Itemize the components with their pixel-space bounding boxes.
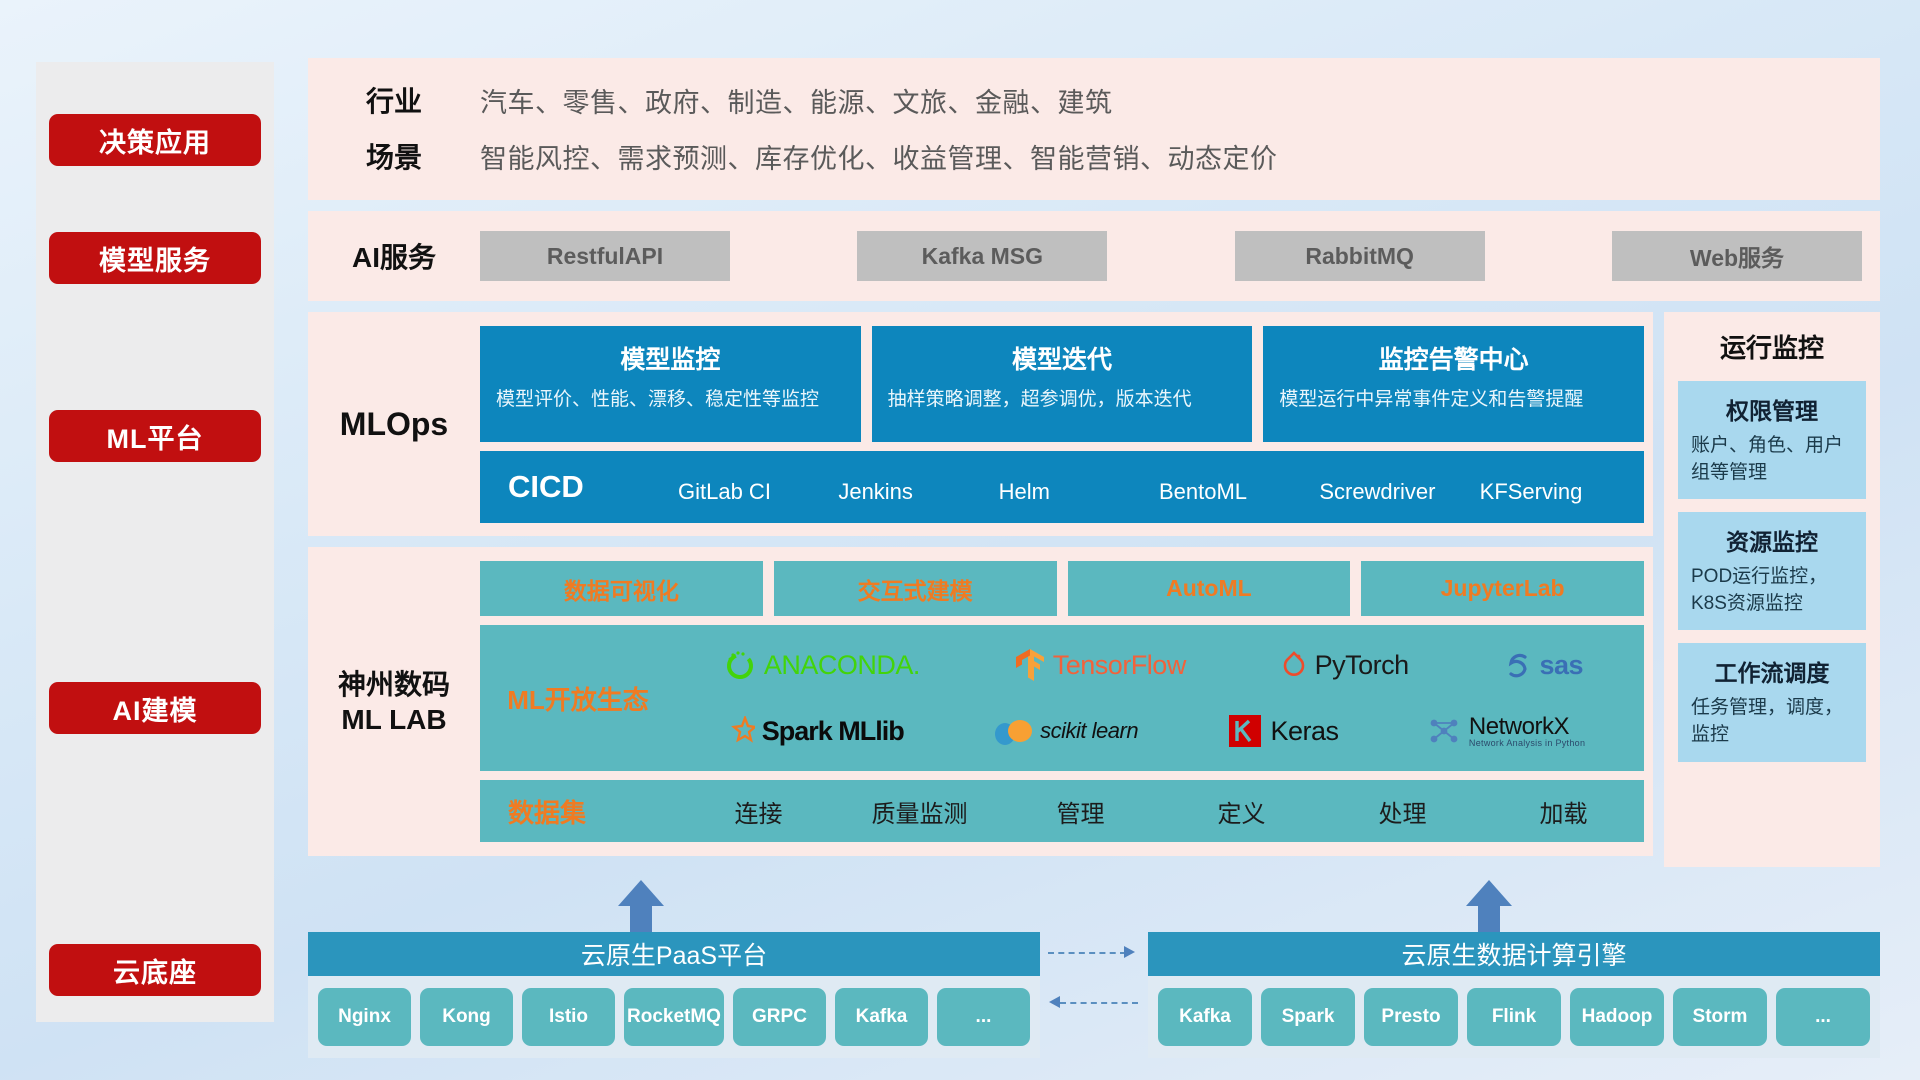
diagram-canvas: 决策应用 模型服务 ML平台 AI建模 云底座 行业 汽车、零售、政府、制造、能…	[0, 0, 1920, 1080]
paas-column: 云原生PaaS平台 Nginx Kong Istio RocketMQ GRPC…	[308, 880, 1040, 1058]
dataset-bar: 数据集 连接 质量监测 管理 定义 处理 加载	[480, 780, 1644, 842]
rail-item-model-service[interactable]: 模型服务	[49, 232, 261, 284]
dataset-item-manage[interactable]: 管理	[1000, 794, 1161, 829]
cicd-item-kfserving[interactable]: KFServing	[1480, 470, 1640, 504]
lab-tab-interactive-modeling[interactable]: 交互式建模	[774, 561, 1057, 616]
card-title: 模型迭代	[888, 340, 1237, 376]
mlops-card-model-iteration[interactable]: 模型迭代 抽样策略调整，超参调优，版本迭代	[872, 326, 1253, 442]
paas-up-arrow-head	[618, 880, 664, 906]
mlops-card-alert-center[interactable]: 监控告警中心 模型运行中异常事件定义和告警提醒	[1263, 326, 1644, 442]
card-title: 模型监控	[496, 340, 845, 376]
scikit-learn-logo: scikit learn	[993, 714, 1138, 748]
ai-service-label: AI服务	[308, 236, 480, 276]
dataset-item-define[interactable]: 定义	[1161, 794, 1322, 829]
card-desc: 账户、角色、用户组等管理	[1691, 433, 1853, 486]
data-engine-header: 云原生数据计算引擎	[1148, 932, 1880, 976]
cloud-pill-istio[interactable]: Istio	[522, 988, 615, 1046]
card-title: 监控告警中心	[1279, 340, 1628, 376]
anaconda-wordmark: ANACONDA.	[764, 650, 920, 681]
dataset-item-load[interactable]: 加载	[1483, 794, 1644, 829]
connector-dash-right	[1048, 952, 1126, 954]
engine-up-arrow-stem	[1478, 906, 1500, 932]
runtime-monitor-column: 运行监控 权限管理 账户、角色、用户组等管理 资源监控 POD运行监控，K8S资…	[1664, 312, 1880, 867]
networkx-tagline: Network Analysis in Python	[1469, 739, 1585, 748]
cicd-item-screwdriver[interactable]: Screwdriver	[1319, 470, 1479, 504]
lab-tab-data-visualization[interactable]: 数据可视化	[480, 561, 763, 616]
runtime-monitor-title: 运行监控	[1678, 328, 1866, 365]
anaconda-icon	[723, 648, 757, 682]
spark-mllib-logo: Spark MLlib	[721, 716, 904, 747]
card-title: 权限管理	[1691, 392, 1853, 426]
cloud-pill-flink[interactable]: Flink	[1467, 988, 1561, 1046]
paas-up-arrow-stem	[630, 906, 652, 932]
service-box-web-service[interactable]: Web服务	[1612, 231, 1862, 281]
rail-label: 决策应用	[99, 121, 211, 160]
cicd-bar: CICD GitLab CI Jenkins Helm BentoML Scre…	[480, 451, 1644, 523]
ml-lab-label: 神州数码 ML LAB	[308, 667, 480, 737]
monitor-card-workflow[interactable]: 工作流调度 任务管理，调度，监控	[1678, 643, 1866, 761]
runtime-monitor-panel: 运行监控 权限管理 账户、角色、用户组等管理 资源监控 POD运行监控，K8S资…	[1664, 312, 1880, 867]
ml-lab-tabs: 数据可视化 交互式建模 AutoML JupyterLab	[480, 561, 1644, 616]
pytorch-wordmark: PyTorch	[1315, 650, 1409, 681]
open-ecosystem-block: ML开放生态	[480, 625, 1644, 771]
card-title: 工作流调度	[1691, 654, 1853, 688]
spark-icon	[721, 716, 755, 746]
ml-lab-label-line2: ML LAB	[308, 702, 480, 737]
rail-label: AI建模	[113, 689, 198, 728]
cloud-pill-nginx[interactable]: Nginx	[318, 988, 411, 1046]
cloud-pill-spark[interactable]: Spark	[1261, 988, 1355, 1046]
cicd-item-gitlab-ci[interactable]: GitLab CI	[678, 470, 838, 504]
sas-icon	[1503, 650, 1533, 680]
card-desc: 模型评价、性能、漂移、稳定性等监控	[496, 387, 845, 414]
ml-lab-label-line1: 神州数码	[308, 667, 480, 702]
cloud-pill-more-right[interactable]: ...	[1776, 988, 1870, 1046]
platform-split: MLOps 模型监控 模型评价、性能、漂移、稳定性等监控 模型迭代 抽样策略调整…	[308, 312, 1880, 867]
connector-dash-left	[1060, 1002, 1138, 1004]
data-engine-column: 云原生数据计算引擎 Kafka Spark Presto Flink Hadoo…	[1148, 880, 1880, 1058]
sas-logo: sas	[1503, 650, 1584, 681]
cloud-base-band: 云原生PaaS平台 Nginx Kong Istio RocketMQ GRPC…	[308, 880, 1880, 1058]
main-stack: 行业 汽车、零售、政府、制造、能源、文旅、金融、建筑 场景 智能风控、需求预测、…	[308, 58, 1880, 867]
cloud-pill-kafka[interactable]: Kafka	[835, 988, 928, 1046]
cloud-pill-rocketmq[interactable]: RocketMQ	[624, 988, 724, 1046]
service-box-rabbitmq[interactable]: RabbitMQ	[1235, 231, 1485, 281]
cicd-label: CICD	[508, 469, 678, 505]
scikit-learn-icon	[993, 714, 1033, 748]
dataset-item-connect[interactable]: 连接	[678, 794, 839, 829]
tensorflow-wordmark: TensorFlow	[1053, 650, 1186, 681]
dataset-item-process[interactable]: 处理	[1322, 794, 1483, 829]
rail-item-cloud-base[interactable]: 云底座	[49, 944, 261, 996]
service-box-restfulapi[interactable]: RestfulAPI	[480, 231, 730, 281]
keras-logo: Keras	[1227, 713, 1338, 749]
rail-item-ml-platform[interactable]: ML平台	[49, 410, 261, 462]
pytorch-logo: PyTorch	[1280, 649, 1409, 681]
cloud-pill-hadoop[interactable]: Hadoop	[1570, 988, 1664, 1046]
cicd-item-bentoml[interactable]: BentoML	[1159, 470, 1319, 504]
tensorflow-logo: TensorFlow	[1014, 647, 1186, 683]
dataset-label: 数据集	[508, 793, 678, 830]
rail-label: 模型服务	[99, 239, 211, 278]
cloud-pill-grpc[interactable]: GRPC	[733, 988, 826, 1046]
sas-wordmark: sas	[1540, 650, 1584, 681]
application-band: 行业 汽车、零售、政府、制造、能源、文旅、金融、建筑 场景 智能风控、需求预测、…	[308, 58, 1880, 200]
open-ecosystem-label: ML开放生态	[480, 680, 676, 717]
layer-rail: 决策应用 模型服务 ML平台 AI建模 云底座	[36, 62, 274, 1022]
ml-lab-band: 神州数码 ML LAB 数据可视化 交互式建模 AutoML JupyterLa…	[308, 547, 1653, 856]
scikit-learn-wordmark: scikit learn	[1040, 718, 1138, 744]
platform-left: MLOps 模型监控 模型评价、性能、漂移、稳定性等监控 模型迭代 抽样策略调整…	[308, 312, 1653, 867]
scenario-row: 场景 智能风控、需求预测、库存优化、收益管理、智能营销、动态定价	[308, 136, 1880, 176]
service-box-kafka-msg[interactable]: Kafka MSG	[857, 231, 1107, 281]
rail-label: 云底座	[113, 951, 197, 990]
card-title: 资源监控	[1691, 523, 1853, 557]
industry-values: 汽车、零售、政府、制造、能源、文旅、金融、建筑	[480, 81, 1113, 120]
card-desc: POD运行监控，K8S资源监控	[1691, 564, 1853, 617]
mlops-band: MLOps 模型监控 模型评价、性能、漂移、稳定性等监控 模型迭代 抽样策略调整…	[308, 312, 1653, 536]
spark-mllib-wordmark: Spark MLlib	[762, 716, 904, 747]
connector-arrow-right	[1124, 946, 1135, 958]
tensorflow-icon	[1014, 647, 1046, 683]
anaconda-logo: ANACONDA.	[723, 648, 920, 682]
dataset-item-quality-monitor[interactable]: 质量监测	[839, 794, 1000, 829]
scenario-label: 场景	[308, 136, 480, 176]
cloud-pill-kafka-engine[interactable]: Kafka	[1158, 988, 1252, 1046]
rail-label: ML平台	[107, 417, 204, 456]
industry-label: 行业	[308, 80, 480, 120]
cloud-pill-kong[interactable]: Kong	[420, 988, 513, 1046]
cicd-item-jenkins[interactable]: Jenkins	[838, 470, 998, 504]
connector-arrow-left	[1049, 996, 1060, 1008]
industry-row: 行业 汽车、零售、政府、制造、能源、文旅、金融、建筑	[308, 80, 1880, 120]
card-desc: 抽样策略调整，超参调优，版本迭代	[888, 387, 1237, 414]
monitor-card-resource[interactable]: 资源监控 POD运行监控，K8S资源监控	[1678, 512, 1866, 630]
networkx-wordmark: NetworkX	[1469, 715, 1585, 739]
pytorch-icon	[1280, 649, 1308, 681]
monitor-card-permission[interactable]: 权限管理 账户、角色、用户组等管理	[1678, 381, 1866, 499]
paas-pill-row: Nginx Kong Istio RocketMQ GRPC Kafka ...	[308, 976, 1040, 1058]
engine-up-arrow-head	[1466, 880, 1512, 906]
cloud-pill-presto[interactable]: Presto	[1364, 988, 1458, 1046]
keras-icon	[1227, 713, 1263, 749]
mlops-label: MLOps	[308, 326, 480, 523]
mlops-card-model-monitoring[interactable]: 模型监控 模型评价、性能、漂移、稳定性等监控	[480, 326, 861, 442]
ai-service-band: AI服务 RestfulAPI Kafka MSG RabbitMQ Web服务	[308, 211, 1880, 301]
cloud-pill-storm[interactable]: Storm	[1673, 988, 1767, 1046]
ai-service-boxes: RestfulAPI Kafka MSG RabbitMQ Web服务	[480, 231, 1880, 281]
eco-logo-row-1: ANACONDA. TensorFlow	[676, 634, 1630, 696]
cloud-pill-more-left[interactable]: ...	[937, 988, 1030, 1046]
data-engine-pill-row: Kafka Spark Presto Flink Hadoop Storm ..…	[1148, 976, 1880, 1058]
lab-tab-automl[interactable]: AutoML	[1068, 561, 1351, 616]
lab-tab-jupyterlab[interactable]: JupyterLab	[1361, 561, 1644, 616]
cicd-item-helm[interactable]: Helm	[999, 470, 1159, 504]
networkx-logo: NetworkX Network Analysis in Python	[1428, 715, 1585, 748]
rail-item-decision-app[interactable]: 决策应用	[49, 114, 261, 166]
networkx-icon	[1428, 715, 1462, 747]
paas-header: 云原生PaaS平台	[308, 932, 1040, 976]
eco-logo-row-2: Spark MLlib scikit learn	[676, 700, 1630, 762]
card-desc: 任务管理，调度，监控	[1691, 695, 1853, 748]
keras-wordmark: Keras	[1270, 716, 1338, 747]
rail-item-ai-modeling[interactable]: AI建模	[49, 682, 261, 734]
scenario-values: 智能风控、需求预测、库存优化、收益管理、智能营销、动态定价	[480, 137, 1278, 176]
card-desc: 模型运行中异常事件定义和告警提醒	[1279, 387, 1628, 414]
